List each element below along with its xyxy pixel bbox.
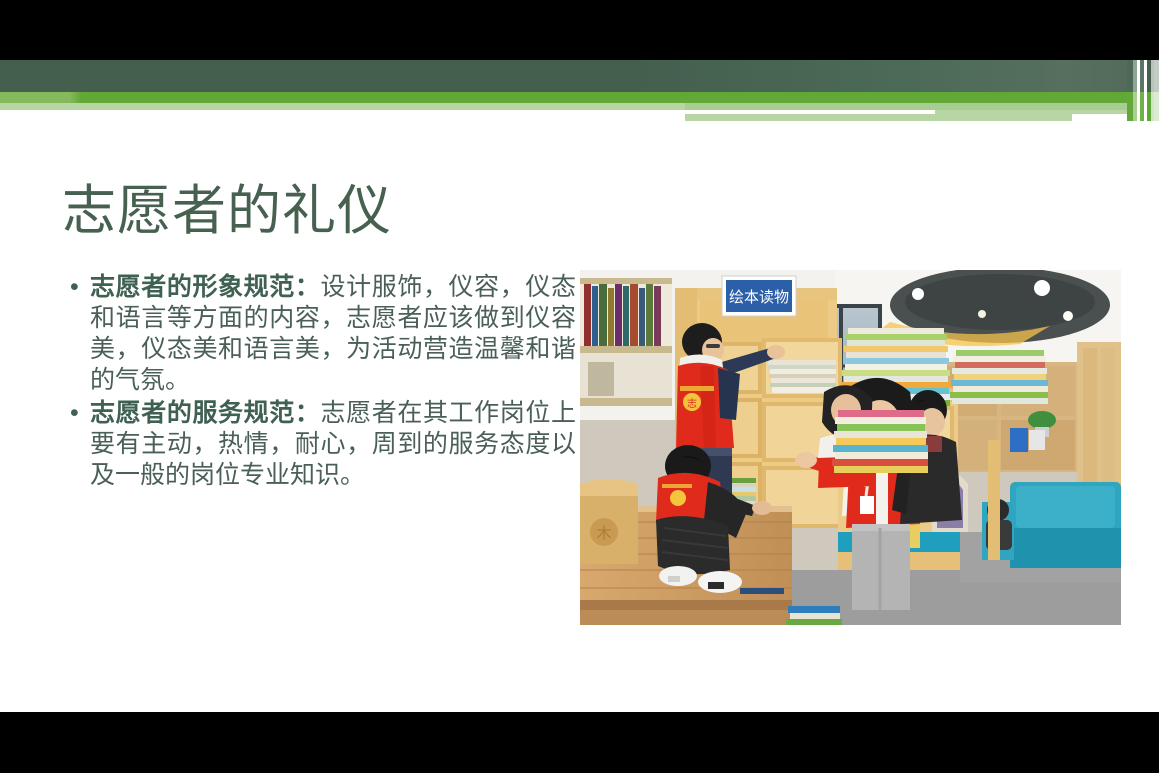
slide-photo-library-volunteers: 绘本读物: [580, 270, 1121, 625]
banner-dark-green-band: [0, 60, 1159, 92]
photo-book-stack-front: [832, 410, 928, 473]
bullet-text: 志愿者的形象规范：设计服饰，仪容，仪态和语言等方面的内容，志愿者应该做到仪容美，…: [90, 272, 576, 396]
bullet-lead-label: 志愿者的服务规范：: [90, 399, 321, 427]
bullet-dot-icon: •: [64, 272, 90, 303]
presentation-slide: 志愿者的礼仪 • 志愿者的形象规范：设计服饰，仪容，仪态和语言等方面的内容，志愿…: [0, 0, 1159, 773]
slide-canvas: 志愿者的礼仪 • 志愿者的形象规范：设计服饰，仪容，仪态和语言等方面的内容，志愿…: [0, 60, 1159, 712]
banner-bright-green-band: [0, 92, 1159, 103]
page-title: 志愿者的礼仪: [62, 180, 762, 242]
bullet-lead-label: 志愿者的形象规范：: [90, 273, 321, 301]
svg-text:志: 志: [687, 397, 697, 410]
bullet-dot-icon: •: [64, 398, 90, 429]
letterbox-top-bar: [0, 0, 1159, 60]
list-item: • 志愿者的服务规范：志愿者在其工作岗位上要有主动，热情，耐心，周到的服务态度以…: [64, 398, 576, 491]
photo-sign-text: 绘本读物: [729, 289, 789, 306]
bullet-text: 志愿者的服务规范：志愿者在其工作岗位上要有主动，热情，耐心，周到的服务态度以及一…: [90, 398, 576, 491]
banner-vertical-stripe-7: [1154, 60, 1159, 92]
photo-illustration: 绘本读物: [580, 270, 1121, 625]
letterbox-bottom-bar: [0, 712, 1159, 773]
banner-vertical-stripe-lower-7: [1154, 92, 1159, 121]
title-block: 志愿者的礼仪: [62, 180, 762, 242]
body-content-list: • 志愿者的形象规范：设计服饰，仪容，仪态和语言等方面的内容，志愿者应该做到仪容…: [64, 272, 576, 493]
banner-stripe-row-2: [685, 103, 1159, 110]
svg-text:木: 木: [596, 525, 611, 542]
list-item: • 志愿者的形象规范：设计服饰，仪容，仪态和语言等方面的内容，志愿者应该做到仪容…: [64, 272, 576, 396]
